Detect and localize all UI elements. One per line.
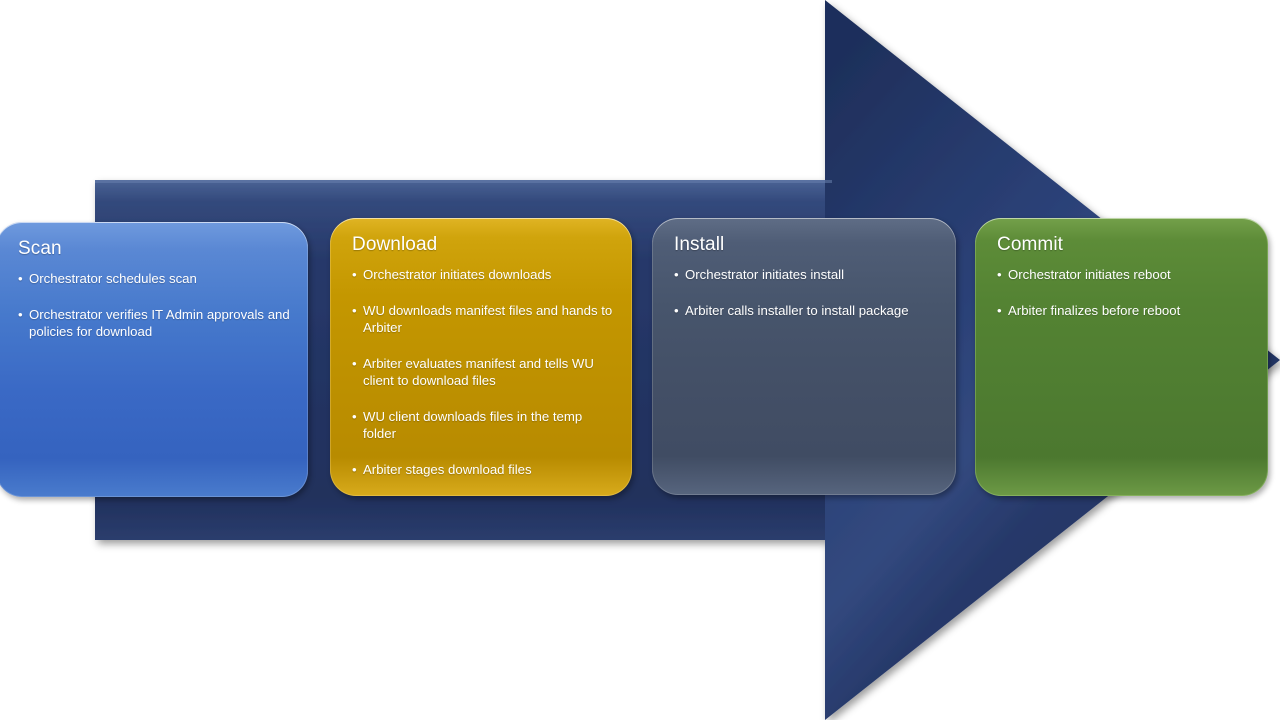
phase-title-scan: Scan	[18, 238, 292, 260]
list-item: WU client downloads files in the temp fo…	[352, 408, 616, 442]
phase-bullets-install: Orchestrator initiates install Arbiter c…	[666, 266, 940, 319]
list-item: Orchestrator initiates reboot	[997, 266, 1252, 283]
phase-bullets-commit: Orchestrator initiates reboot Arbiter fi…	[989, 266, 1252, 319]
list-item: Arbiter finalizes before reboot	[997, 302, 1252, 319]
phase-bullets-download: Orchestrator initiates downloads WU down…	[344, 266, 616, 478]
process-flow-diagram: Scan Orchestrator schedules scan Orchest…	[0, 0, 1280, 720]
phase-box-scan[interactable]: Scan Orchestrator schedules scan Orchest…	[0, 222, 308, 497]
list-item: WU downloads manifest files and hands to…	[352, 302, 616, 336]
list-item: Arbiter evaluates manifest and tells WU …	[352, 355, 616, 389]
phase-box-install[interactable]: Install Orchestrator initiates install A…	[652, 218, 956, 495]
arrow-body-highlight	[95, 180, 832, 183]
list-item: Orchestrator initiates downloads	[352, 266, 616, 283]
list-item: Orchestrator schedules scan	[18, 270, 292, 287]
list-item: Arbiter calls installer to install packa…	[674, 302, 940, 319]
phase-bullets-scan: Orchestrator schedules scan Orchestrator…	[10, 270, 292, 340]
phase-title-download: Download	[352, 234, 616, 256]
list-item: Orchestrator initiates install	[674, 266, 940, 283]
phase-title-commit: Commit	[997, 234, 1252, 256]
phase-title-install: Install	[674, 234, 940, 256]
list-item: Orchestrator verifies IT Admin approvals…	[18, 306, 292, 340]
list-item: Arbiter stages download files	[352, 461, 616, 478]
phase-box-commit[interactable]: Commit Orchestrator initiates reboot Arb…	[975, 218, 1268, 496]
phase-box-download[interactable]: Download Orchestrator initiates download…	[330, 218, 632, 496]
